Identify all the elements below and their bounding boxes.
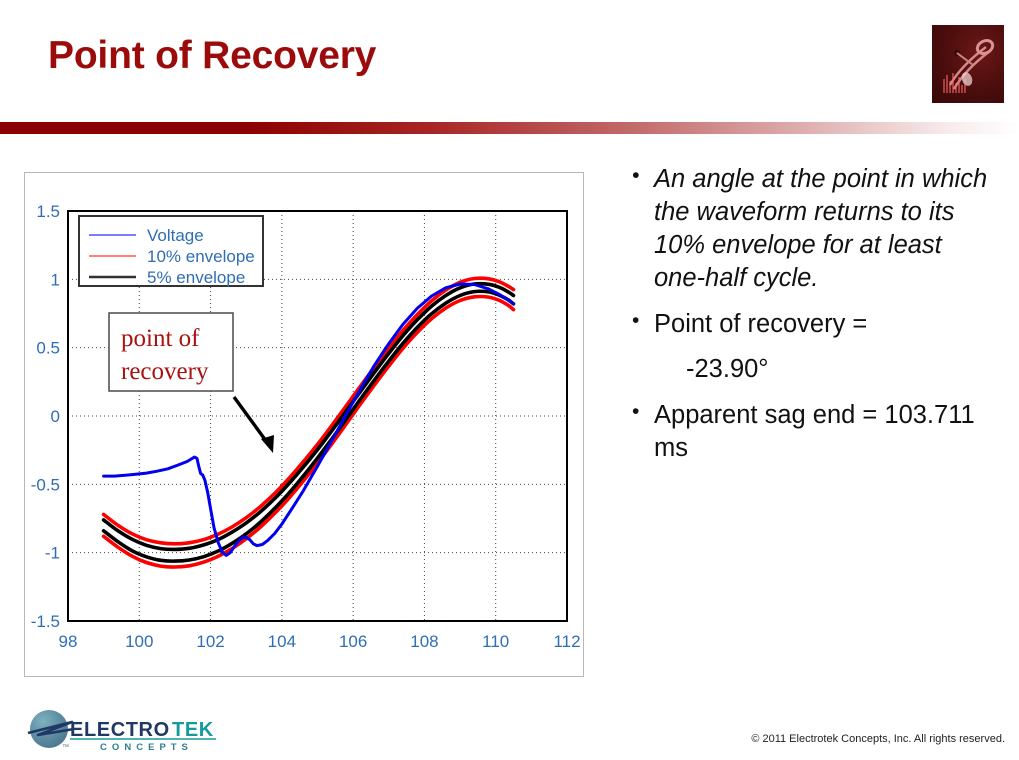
point-of-recovery-annotation: point of recovery xyxy=(109,313,274,453)
page-title: Point of Recovery xyxy=(48,34,376,78)
x-tick-label: 102 xyxy=(196,632,224,651)
annotation-arrow-icon xyxy=(234,397,269,445)
x-tick-label: 106 xyxy=(339,632,367,651)
y-tick-label: -0.5 xyxy=(31,475,60,494)
copyright-notice: © 2011 Electrotek Concepts, Inc. All rig… xyxy=(700,733,1005,745)
y-tick-label: -1 xyxy=(45,544,60,563)
footer-logo-trademark: ™ xyxy=(62,744,69,751)
y-tick-label: -1.5 xyxy=(31,612,60,631)
bullet-list: An angle at the point in which the wavef… xyxy=(630,163,998,478)
bullet-item-point-of-recovery: Point of recovery = xyxy=(630,308,998,341)
chart-legend: Voltage10% envelope5% envelope xyxy=(79,216,263,287)
legend-label-2: 5% envelope xyxy=(147,268,245,287)
x-axis-tick-labels: 98100102104106108110112 xyxy=(59,632,581,651)
x-tick-label: 100 xyxy=(125,632,153,651)
x-tick-label: 108 xyxy=(410,632,438,651)
x-tick-label: 98 xyxy=(59,632,78,651)
bullet-item-apparent-sag-end: Apparent sag end = 103.711 ms xyxy=(630,399,998,465)
chart-panel: 98100102104106108110112 -1.5-1-0.500.511… xyxy=(24,172,584,677)
x-tick-label: 112 xyxy=(553,632,580,651)
legend-label-1: 10% envelope xyxy=(147,247,255,266)
x-tick-label: 110 xyxy=(482,632,509,651)
bullet-item-definition: An angle at the point in which the wavef… xyxy=(630,163,998,295)
y-tick-label: 1.5 xyxy=(36,202,60,221)
header-divider-rule xyxy=(0,122,1019,134)
x-tick-label: 104 xyxy=(268,632,296,651)
electrotek-monitor-logo-icon xyxy=(932,25,1004,103)
legend-label-0: Voltage xyxy=(147,226,204,245)
voltage-sag-chart: 98100102104106108110112 -1.5-1-0.500.511… xyxy=(25,173,583,676)
annotation-line-1: point of xyxy=(121,325,200,352)
electrotek-concepts-footer-logo: ELECTRO TEK C O N C E P T S ™ xyxy=(22,706,222,752)
logo-artwork xyxy=(940,35,998,95)
footer-logo-artwork: ELECTRO TEK C O N C E P T S ™ xyxy=(22,706,222,752)
footer-logo-tagline: C O N C E P T S xyxy=(100,742,189,752)
y-axis-tick-labels: -1.5-1-0.500.511.5 xyxy=(31,202,60,631)
y-tick-label: 0.5 xyxy=(36,339,60,358)
annotation-line-2: recovery xyxy=(121,358,209,385)
footer-logo-secondary-text: TEK xyxy=(172,719,214,741)
footer-logo-primary-text: ELECTRO xyxy=(70,719,170,741)
y-tick-label: 1 xyxy=(51,270,60,289)
bullet-item-point-of-recovery-value: -23.90° xyxy=(630,353,998,386)
y-tick-label: 0 xyxy=(51,407,60,426)
